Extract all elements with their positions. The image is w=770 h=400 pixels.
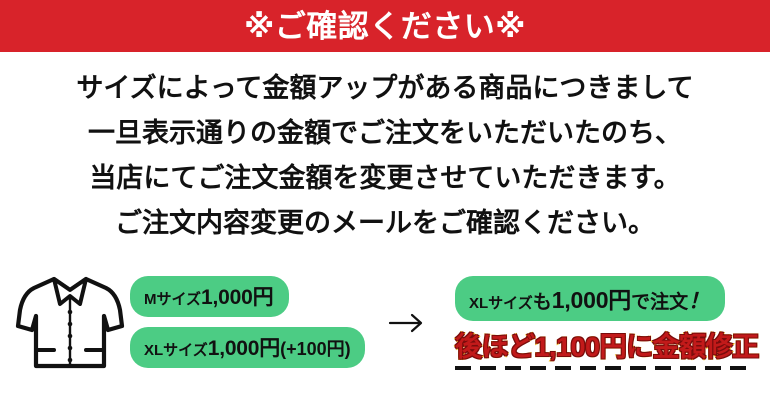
dress-shirt-icon [14,270,126,374]
before-price-group: Mサイズ1,000円 XLサイズ1,000円(+100円) [130,276,380,368]
price-tag-m-size: Mサイズ1,000円 [130,276,289,317]
after-price-group: XLサイズも1,000円で注文！ 後ほど1,100円に金額修正 [455,276,760,370]
notice-body: サイズによって金額アップがある商品につきまして 一旦表示通りの金額でご注文をいた… [0,52,770,246]
after-order-text: で注文 [631,292,688,313]
after-also-particle: も [533,292,552,313]
right-arrow-icon [388,310,428,336]
price-tag-xl-size: XLサイズ1,000円(+100円) [130,327,365,368]
m-size-price: 1,000円 [201,286,273,309]
m-size-label: Mサイズ [144,291,201,308]
price-correction-text: 後ほど1,100円に金額修正 [455,333,760,361]
xl-size-label: XLサイズ [144,342,208,359]
dashed-underline [455,366,747,370]
notice-line-2: 一旦表示通りの金額でご注文をいただいたのち、 [0,111,770,156]
price-tag-xl-order: XLサイズも1,000円で注文！ [455,276,725,321]
notice-line-1: サイズによって金額アップがある商品につきまして [0,66,770,111]
xl-size-price: 1,000円 [208,337,280,360]
xl-size-surcharge: (+100円) [280,339,351,359]
after-xl-size-label: XLサイズ [469,295,533,312]
header-banner: ※ご確認ください※ [0,0,770,52]
after-exclamation: ！ [688,290,709,313]
price-comparison-row: Mサイズ1,000円 XLサイズ1,000円(+100円) XLサイズも1,00… [0,262,770,400]
after-price: 1,000円 [552,287,631,313]
notice-line-3: 当店にてご注文金額を変更させていただきます。 [0,156,770,201]
notice-line-4: ご注文内容変更のメールをご確認ください。 [0,201,770,246]
page-title: ※ご確認ください※ [244,11,526,42]
